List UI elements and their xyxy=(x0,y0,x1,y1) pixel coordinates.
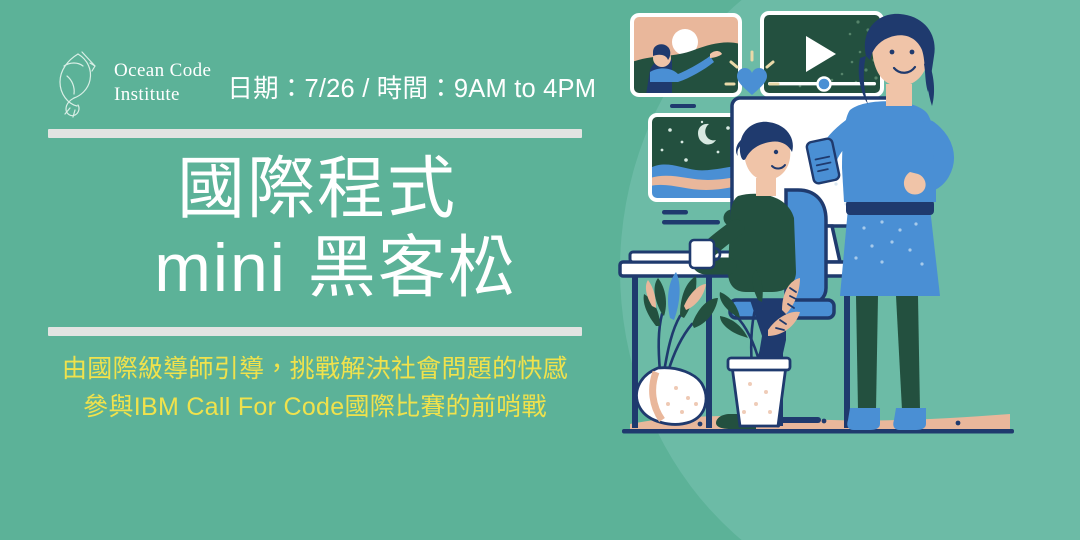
brand-name-line1: Ocean Code xyxy=(114,59,211,83)
title-line-1: 國際程式 xyxy=(48,150,582,229)
divider-bottom xyxy=(48,327,582,336)
brand-wordmark: Ocean Code Institute xyxy=(114,59,211,107)
subtitle-line-1: 由國際級導師引導，挑戰解決社會問題的快感 xyxy=(48,350,582,388)
text-column: Ocean Code Institute 日期：7/26 / 時間：9AM to… xyxy=(48,46,600,426)
subtitle-block: 由國際級導師引導，挑戰解決社會問題的快感 參與IBM Call For Code… xyxy=(48,336,582,426)
potted-plant-round-vase xyxy=(637,272,718,424)
divider-top xyxy=(48,129,582,138)
photo-card-sunrise xyxy=(632,15,740,95)
title-block: 國際程式 mini 黑客松 xyxy=(48,138,582,314)
subtitle-line-2: 參與IBM Call For Code國際比賽的前哨戰 xyxy=(48,388,582,426)
brand-name-line2: Institute xyxy=(114,83,211,107)
promo-banner: Ocean Code Institute 日期：7/26 / 時間：9AM to… xyxy=(0,0,1080,540)
brand-row: Ocean Code Institute 日期：7/26 / 時間：9AM to… xyxy=(48,46,600,120)
ocean-code-seahorse-logo-icon xyxy=(48,46,104,120)
title-line-2: mini 黑客松 xyxy=(48,229,582,308)
illustration-remote-work-scene xyxy=(610,0,1080,540)
event-datetime: 日期：7/26 / 時間：9AM to 4PM xyxy=(227,68,596,105)
potted-plant-tapered-pot xyxy=(720,270,800,426)
